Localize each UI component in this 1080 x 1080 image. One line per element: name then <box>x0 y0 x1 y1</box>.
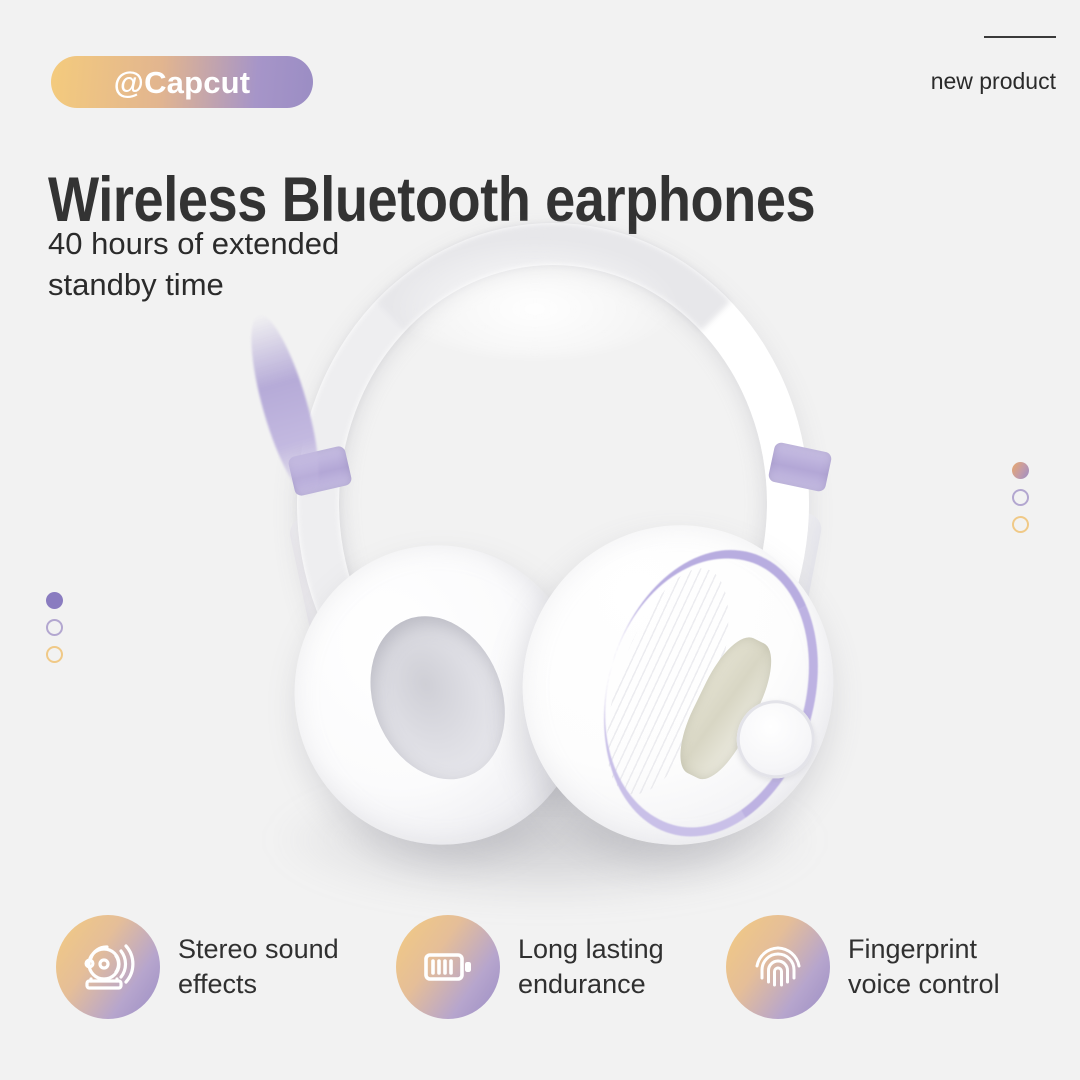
brand-badge-label: @Capcut <box>114 67 251 98</box>
headband-highlight <box>385 237 685 357</box>
feature-label: Stereo sound effects <box>178 932 339 1002</box>
battery-icon <box>396 915 500 1019</box>
product-image-headphones <box>255 215 865 915</box>
feature-item-stereo-sound[interactable]: Stereo sound effects <box>56 915 396 1019</box>
bell-sound-icon <box>56 915 160 1019</box>
carousel-dot-1[interactable] <box>46 592 63 609</box>
new-product-tag: new product <box>931 36 1056 93</box>
divider-rule <box>984 36 1056 38</box>
earcup-left-cushion <box>347 596 529 800</box>
fingerprint-icon <box>726 915 830 1019</box>
new-product-label: new product <box>931 70 1056 93</box>
carousel-dot-3[interactable] <box>46 646 63 663</box>
brand-badge[interactable]: @Capcut <box>51 56 313 108</box>
carousel-dot-1[interactable] <box>1012 462 1029 479</box>
carousel-dots-right[interactable] <box>1012 462 1029 533</box>
carousel-dot-2[interactable] <box>46 619 63 636</box>
carousel-dot-3[interactable] <box>1012 516 1029 533</box>
carousel-dots-left[interactable] <box>46 592 63 663</box>
feature-item-long-lasting[interactable]: Long lasting endurance <box>396 915 726 1019</box>
feature-item-fingerprint[interactable]: Fingerprint voice control <box>726 915 1056 1019</box>
feature-list: Stereo sound effects Long lasting endura… <box>0 915 1080 1019</box>
promo-poster: @Capcut Wireless Bluetooth earphones 40 … <box>0 0 1080 1080</box>
feature-label: Long lasting endurance <box>518 932 664 1002</box>
feature-label: Fingerprint voice control <box>848 932 1000 1002</box>
carousel-dot-2[interactable] <box>1012 489 1029 506</box>
